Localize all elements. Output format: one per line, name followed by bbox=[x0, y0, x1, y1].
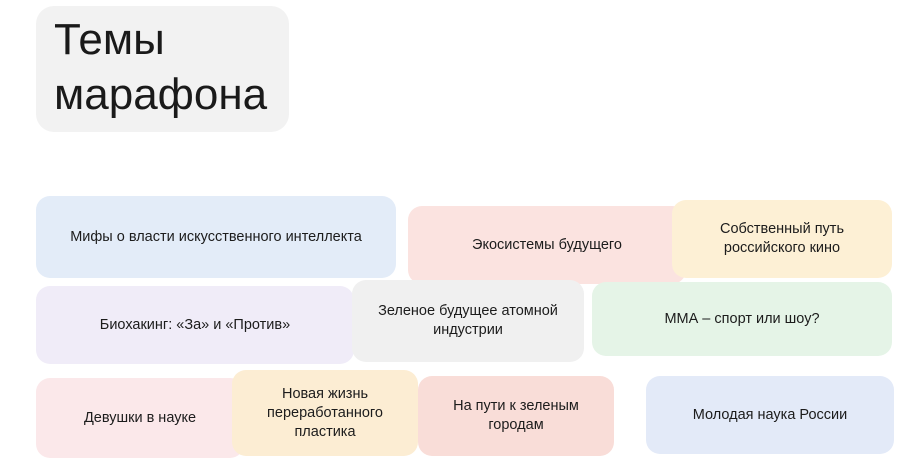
topic-tag-label: Мифы о власти искусственного интеллекта bbox=[70, 228, 362, 247]
topic-tag-label: Биохакинг: «За» и «Против» bbox=[100, 316, 290, 335]
topic-tag-label: ММА – спорт или шоу? bbox=[664, 310, 819, 329]
topic-tag-ecosystems[interactable]: Экосистемы будущего bbox=[408, 206, 686, 284]
topic-tag-label: Зеленое будущее атомной индустрии bbox=[362, 302, 574, 340]
topic-tag-green-cities[interactable]: На пути к зеленым городам bbox=[418, 376, 614, 456]
topic-tag-atomic-future[interactable]: Зеленое будущее атомной индустрии bbox=[352, 280, 584, 362]
page-title: Темы марафона bbox=[36, 6, 289, 132]
topic-tag-grid: Мифы о власти искусственного интеллекта … bbox=[0, 190, 921, 465]
topic-tag-label: На пути к зеленым городам bbox=[428, 397, 604, 435]
topic-tag-recycled-plastic[interactable]: Новая жизнь переработанного пластика bbox=[232, 370, 418, 456]
page-title-line-2: марафона bbox=[54, 67, 267, 122]
topic-tag-girls-in-science[interactable]: Девушки в науке bbox=[36, 378, 244, 458]
topic-tag-label: Молодая наука России bbox=[693, 406, 847, 425]
topic-tag-label: Новая жизнь переработанного пластика bbox=[242, 385, 408, 442]
topic-tag-biohacking[interactable]: Биохакинг: «За» и «Против» bbox=[36, 286, 354, 364]
slide-root: Темы марафона Мифы о власти искусственно… bbox=[0, 0, 921, 475]
topic-tag-young-science[interactable]: Молодая наука России bbox=[646, 376, 894, 454]
topic-tag-russian-cinema[interactable]: Собственный путь российского кино bbox=[672, 200, 892, 278]
page-title-line-1: Темы bbox=[54, 12, 267, 67]
topic-tag-label: Собственный путь российского кино bbox=[682, 220, 882, 258]
topic-tag-label: Девушки в науке bbox=[84, 409, 196, 428]
topic-tag-ai-myths[interactable]: Мифы о власти искусственного интеллекта bbox=[36, 196, 396, 278]
topic-tag-mma[interactable]: ММА – спорт или шоу? bbox=[592, 282, 892, 356]
topic-tag-label: Экосистемы будущего bbox=[472, 236, 622, 255]
